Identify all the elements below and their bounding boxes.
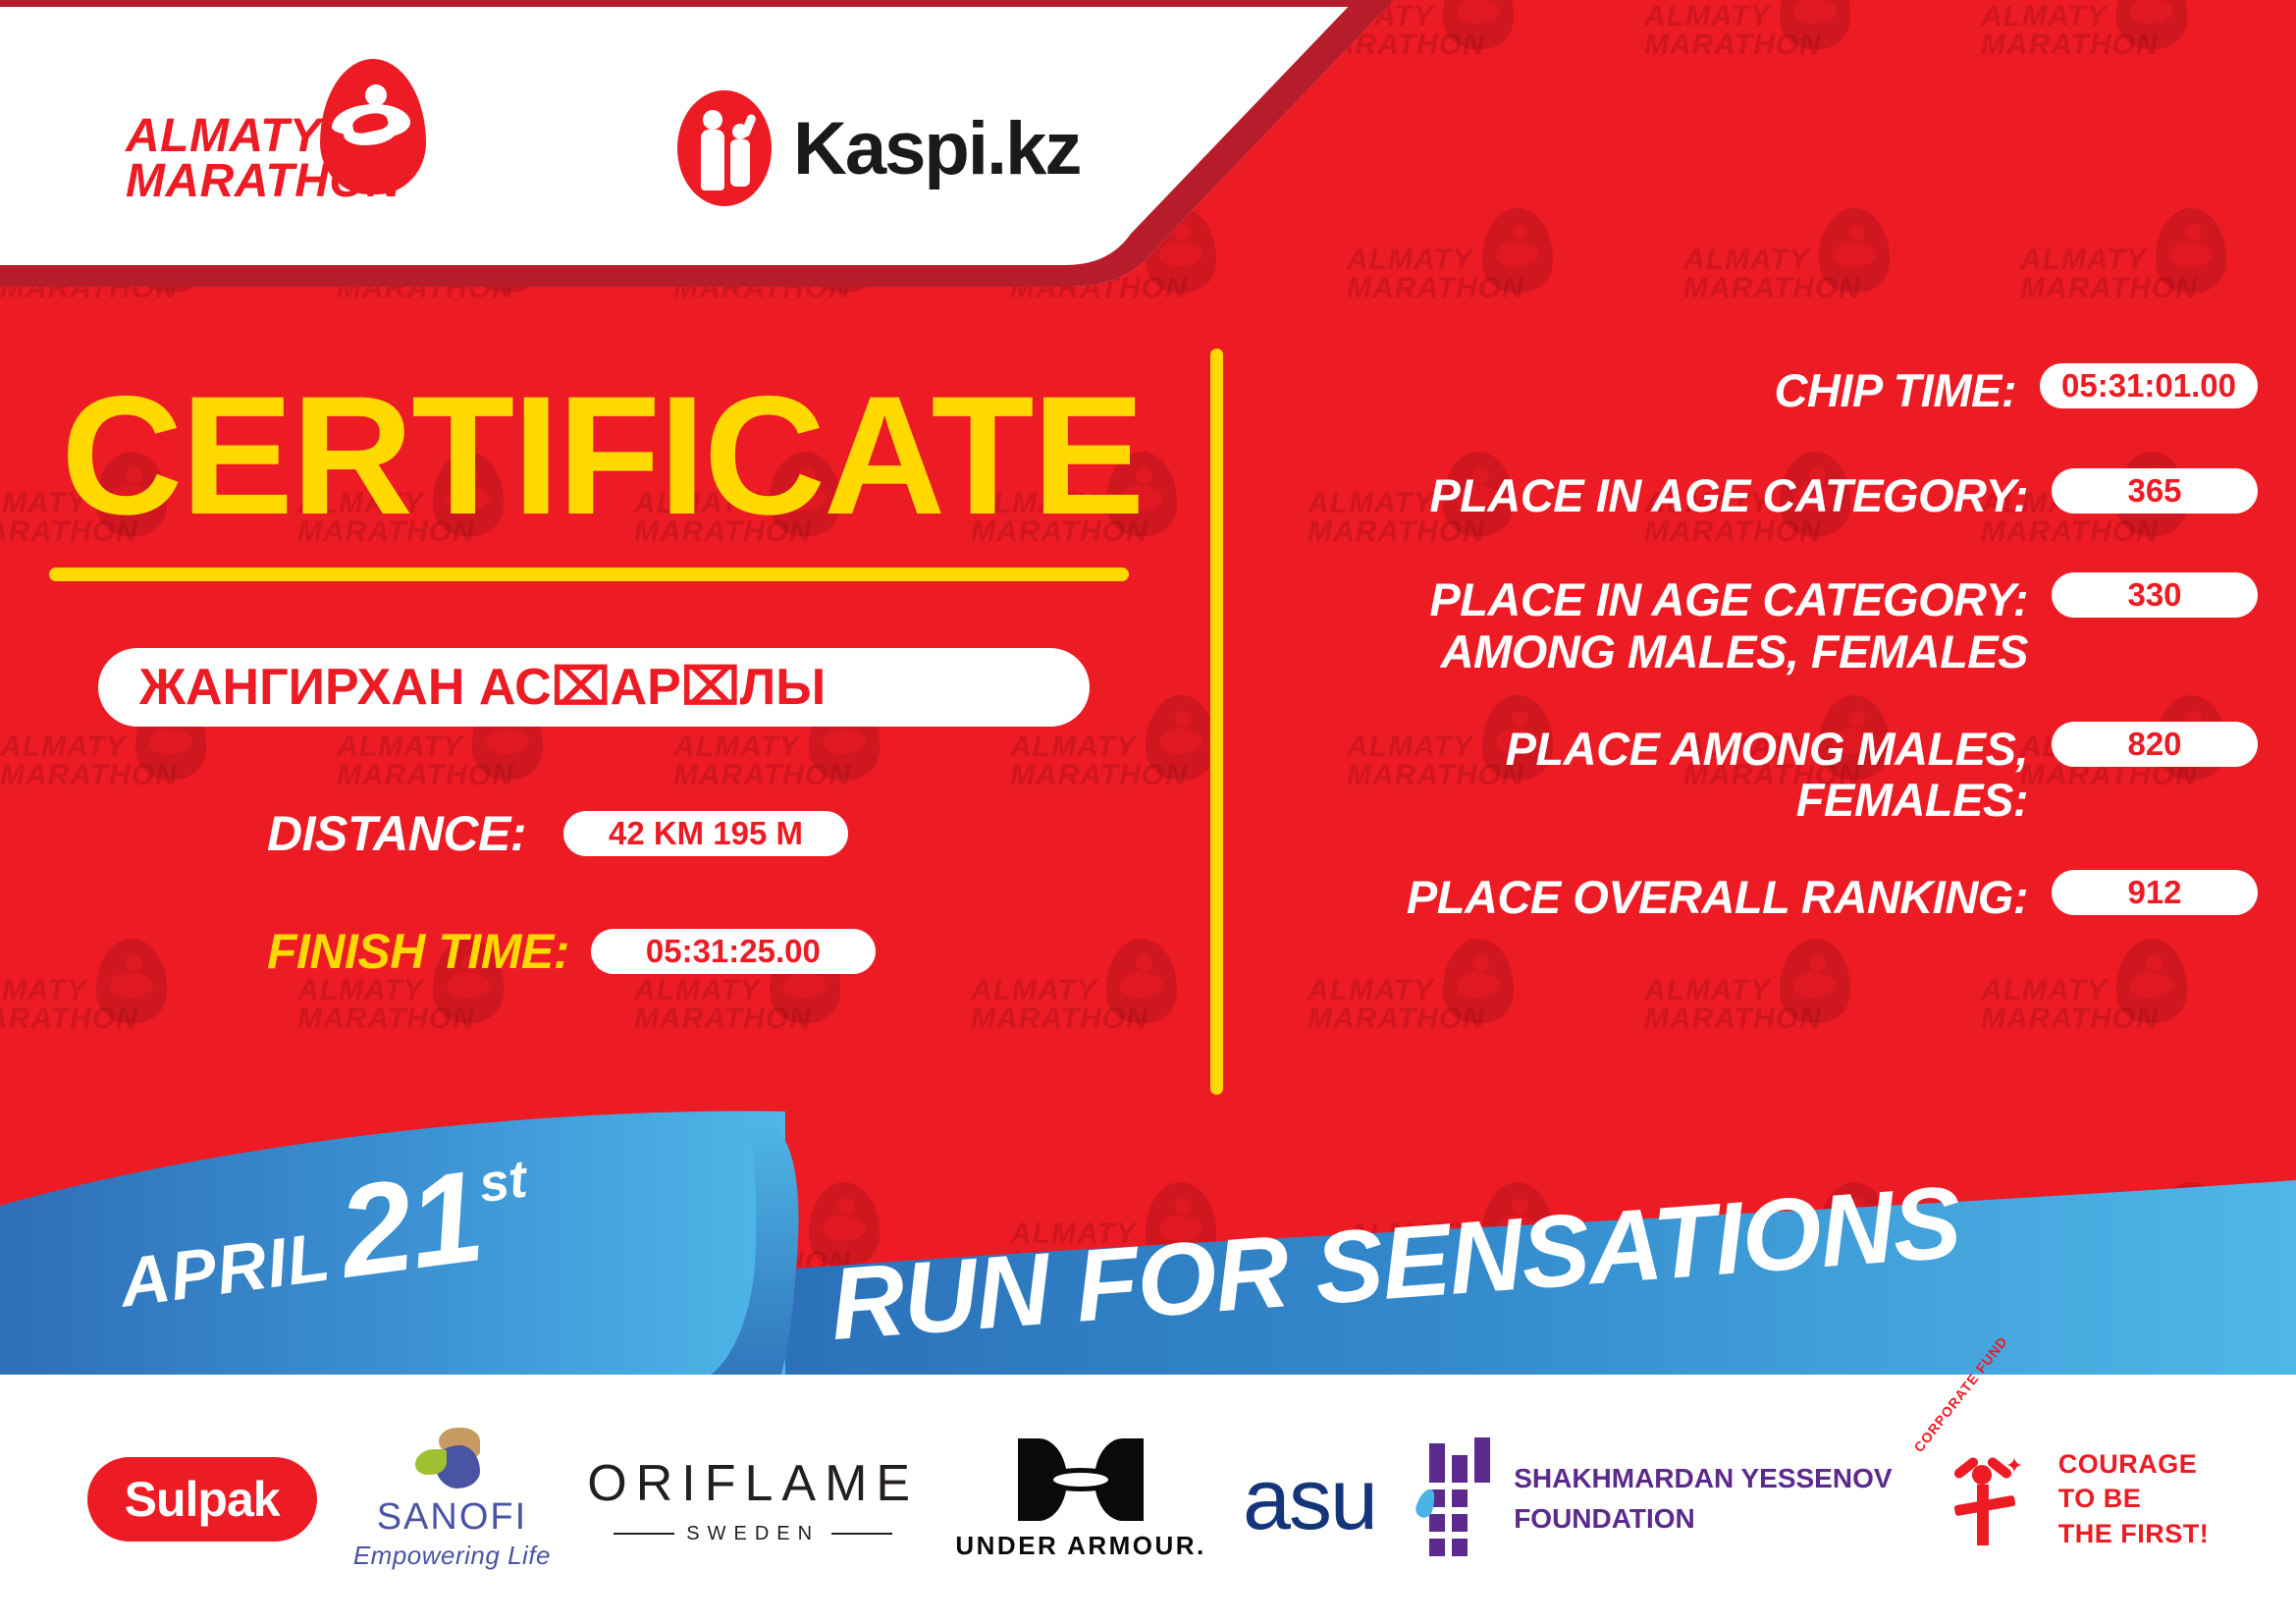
kaspi-wordmark: Kaspi.kz bbox=[793, 106, 1080, 191]
place-overall-value-pill: 912 bbox=[2052, 870, 2258, 915]
corporate-fund-figure-icon: CORPORATE FUND ✦ bbox=[1929, 1439, 2045, 1559]
corporate-fund-line-1: COURAGE bbox=[2058, 1447, 2210, 1482]
watermark-text: ALMATYMARATHON bbox=[1683, 245, 1861, 303]
place-overall-label: PLACE OVERALL RANKING: bbox=[1276, 870, 2052, 924]
yessenov-line-1: SHAKHMARDAN YESSENOV bbox=[1514, 1459, 1892, 1499]
vertical-divider bbox=[1210, 349, 1223, 1095]
place-age-category-gender-value: 330 bbox=[2127, 576, 2181, 614]
place-age-category-label: PLACE IN AGE CATEGORY: bbox=[1276, 468, 2052, 522]
place-among-gender-value: 820 bbox=[2127, 726, 2181, 763]
sulpak-wordmark: Sulpak bbox=[125, 1471, 280, 1528]
title-underline-rule bbox=[49, 568, 1129, 581]
sponsor-logo-oriflame: ORIFLAME SWEDEN bbox=[587, 1454, 919, 1545]
distance-row: DISTANCE: 42 KM 195 M bbox=[267, 805, 848, 862]
certificate-page: ALMATYMARATHONALMATYMARATHONALMATYMARATH… bbox=[0, 0, 2296, 1624]
header-content: ALMATY MARATHON Kaspi.kz bbox=[0, 0, 1394, 287]
place-among-gender-row: PLACE AMONG MALES, FEMALES: 820 bbox=[1276, 722, 2258, 827]
watermark-text: ALMATYMARATHON bbox=[1308, 976, 1485, 1034]
watermark-text: ALMATYMARATHON bbox=[297, 976, 475, 1034]
sanofi-tagline: Empowering Life bbox=[353, 1541, 551, 1571]
place-age-category-row: PLACE IN AGE CATEGORY: 365 bbox=[1276, 468, 2258, 522]
watermark-text: ALMATYMARATHON bbox=[673, 732, 851, 790]
almaty-marathon-logo: ALMATY MARATHON bbox=[126, 59, 479, 231]
place-age-category-gender-row: PLACE IN AGE CATEGORY: AMONG MALES, FEMA… bbox=[1276, 572, 2258, 677]
distance-value: 42 KM 195 M bbox=[609, 815, 803, 852]
yessenov-line-2: FOUNDATION bbox=[1514, 1499, 1892, 1540]
kaspi-figure-a-head bbox=[703, 110, 722, 130]
watermark-tile: ALMATYMARATHON bbox=[1644, 0, 1890, 79]
under-armour-icon bbox=[1018, 1438, 1144, 1521]
under-armour-wordmark: UNDER ARMOUR. bbox=[955, 1531, 1205, 1561]
place-overall-row: PLACE OVERALL RANKING: 912 bbox=[1276, 870, 2258, 924]
corporate-fund-line-3: THE FIRST! bbox=[2058, 1517, 2210, 1551]
distance-label: DISTANCE: bbox=[267, 805, 526, 862]
watermark-tile: ALMATYMARATHON bbox=[0, 935, 206, 1053]
finish-time-label: FINISH TIME: bbox=[267, 923, 569, 980]
watermark-text: ALMATYMARATHON bbox=[1010, 732, 1188, 790]
watermark-text: ALMATYMARATHON bbox=[634, 976, 812, 1034]
certificate-title: CERTIFICATE bbox=[61, 371, 1143, 540]
chip-time-value: 05:31:01.00 bbox=[2061, 367, 2236, 405]
kaspi-figure-b-body bbox=[730, 139, 750, 187]
place-age-category-value-pill: 365 bbox=[2052, 468, 2258, 514]
almaty-marathon-wordmark: ALMATY MARATHON bbox=[126, 114, 400, 204]
corporate-fund-wordmark: COURAGE TO BE THE FIRST! bbox=[2058, 1447, 2210, 1550]
oriflame-rule-left bbox=[614, 1533, 674, 1535]
kaspi-logo: Kaspi.kz bbox=[677, 90, 1080, 206]
sponsor-logo-asu: asu bbox=[1243, 1449, 1393, 1549]
logo-line-1: ALMATY bbox=[126, 114, 400, 159]
kaspi-figure-a-body bbox=[701, 130, 724, 190]
chip-time-label: CHIP TIME: bbox=[1276, 363, 2040, 417]
sponsor-logo-under-armour: UNDER ARMOUR. bbox=[955, 1438, 1205, 1561]
watermark-text: ALMATYMARATHON bbox=[1981, 976, 2159, 1034]
event-day: 21 bbox=[331, 1141, 489, 1306]
watermark-text: ALMATYMARATHON bbox=[1644, 2, 1822, 60]
watermark-text: ALMATYMARATHON bbox=[1644, 976, 1822, 1034]
kaspi-figures-icon bbox=[677, 90, 772, 206]
watermark-text: ALMATYMARATHON bbox=[0, 976, 138, 1034]
event-day-suffix: st bbox=[475, 1149, 530, 1216]
place-age-category-gender-label: PLACE IN AGE CATEGORY: AMONG MALES, FEMA… bbox=[1276, 572, 2052, 677]
corporate-fund-line-2: TO BE bbox=[2058, 1482, 2210, 1516]
sponsor-logo-sulpak: Sulpak bbox=[87, 1457, 317, 1542]
oriflame-subtitle: SWEDEN bbox=[686, 1523, 820, 1545]
sanofi-swirl-icon bbox=[409, 1428, 494, 1489]
oriflame-rule-right bbox=[831, 1533, 892, 1535]
place-age-category-gender-value-pill: 330 bbox=[2052, 572, 2258, 618]
finish-time-value-pill: 05:31:25.00 bbox=[591, 929, 876, 974]
place-among-gender-label: PLACE AMONG MALES, FEMALES: bbox=[1276, 722, 2052, 827]
logo-line-2: MARATHON bbox=[126, 159, 400, 204]
participant-name-value: ЖАНГИРХАН АС⌧АР⌧ЛЫ bbox=[139, 658, 826, 717]
results-column: CHIP TIME: 05:31:01.00 PLACE IN AGE CATE… bbox=[1276, 363, 2258, 966]
yessenov-wordmark: SHAKHMARDAN YESSENOV FOUNDATION bbox=[1514, 1459, 1892, 1539]
participant-name-field: ЖАНГИРХАН АС⌧АР⌧ЛЫ bbox=[98, 648, 1090, 727]
kaspi-figure-arm bbox=[740, 113, 757, 138]
distance-value-pill: 42 KM 195 M bbox=[563, 811, 848, 856]
finish-time-row: FINISH TIME: 05:31:25.00 bbox=[267, 923, 876, 980]
watermark-tile: ALMATYMARATHON bbox=[2020, 204, 2266, 322]
watermark-text: ALMATYMARATHON bbox=[337, 732, 514, 790]
watermark-tile: ALMATYMARATHON bbox=[1683, 204, 1929, 322]
sponsor-logo-corporate-fund: CORPORATE FUND ✦ COURAGE TO BE THE FIRST… bbox=[1929, 1439, 2210, 1559]
place-age-category-value: 365 bbox=[2127, 472, 2181, 510]
oriflame-wordmark: ORIFLAME bbox=[587, 1454, 919, 1513]
oriflame-subtitle-group: SWEDEN bbox=[614, 1523, 892, 1545]
yessenov-bars-icon bbox=[1429, 1443, 1490, 1556]
sponsor-bar: Sulpak SANOFI Empowering Life ORIFLAME S… bbox=[0, 1375, 2296, 1624]
sponsor-logo-yessenov-foundation: SHAKHMARDAN YESSENOV FOUNDATION bbox=[1429, 1443, 1892, 1556]
chip-time-row: CHIP TIME: 05:31:01.00 bbox=[1276, 363, 2258, 417]
watermark-text: ALMATYMARATHON bbox=[1981, 2, 2159, 60]
watermark-tile: ALMATYMARATHON bbox=[971, 935, 1216, 1053]
watermark-text: ALMATYMARATHON bbox=[2020, 245, 2198, 303]
runner-head-shape bbox=[365, 84, 387, 106]
place-overall-value: 912 bbox=[2127, 874, 2181, 911]
sanofi-wordmark: SANOFI bbox=[377, 1496, 527, 1539]
watermark-text: ALMATYMARATHON bbox=[0, 732, 178, 790]
chip-time-value-pill: 05:31:01.00 bbox=[2040, 363, 2258, 408]
asu-wordmark: asu bbox=[1243, 1449, 1376, 1549]
sponsor-logo-sanofi: SANOFI Empowering Life bbox=[353, 1428, 551, 1571]
watermark-tile: ALMATYMARATHON bbox=[1981, 0, 2226, 79]
place-among-gender-value-pill: 820 bbox=[2052, 722, 2258, 767]
finish-time-value: 05:31:25.00 bbox=[646, 933, 821, 970]
event-month: APRIL bbox=[115, 1217, 335, 1322]
watermark-text: ALMATYMARATHON bbox=[971, 976, 1148, 1034]
